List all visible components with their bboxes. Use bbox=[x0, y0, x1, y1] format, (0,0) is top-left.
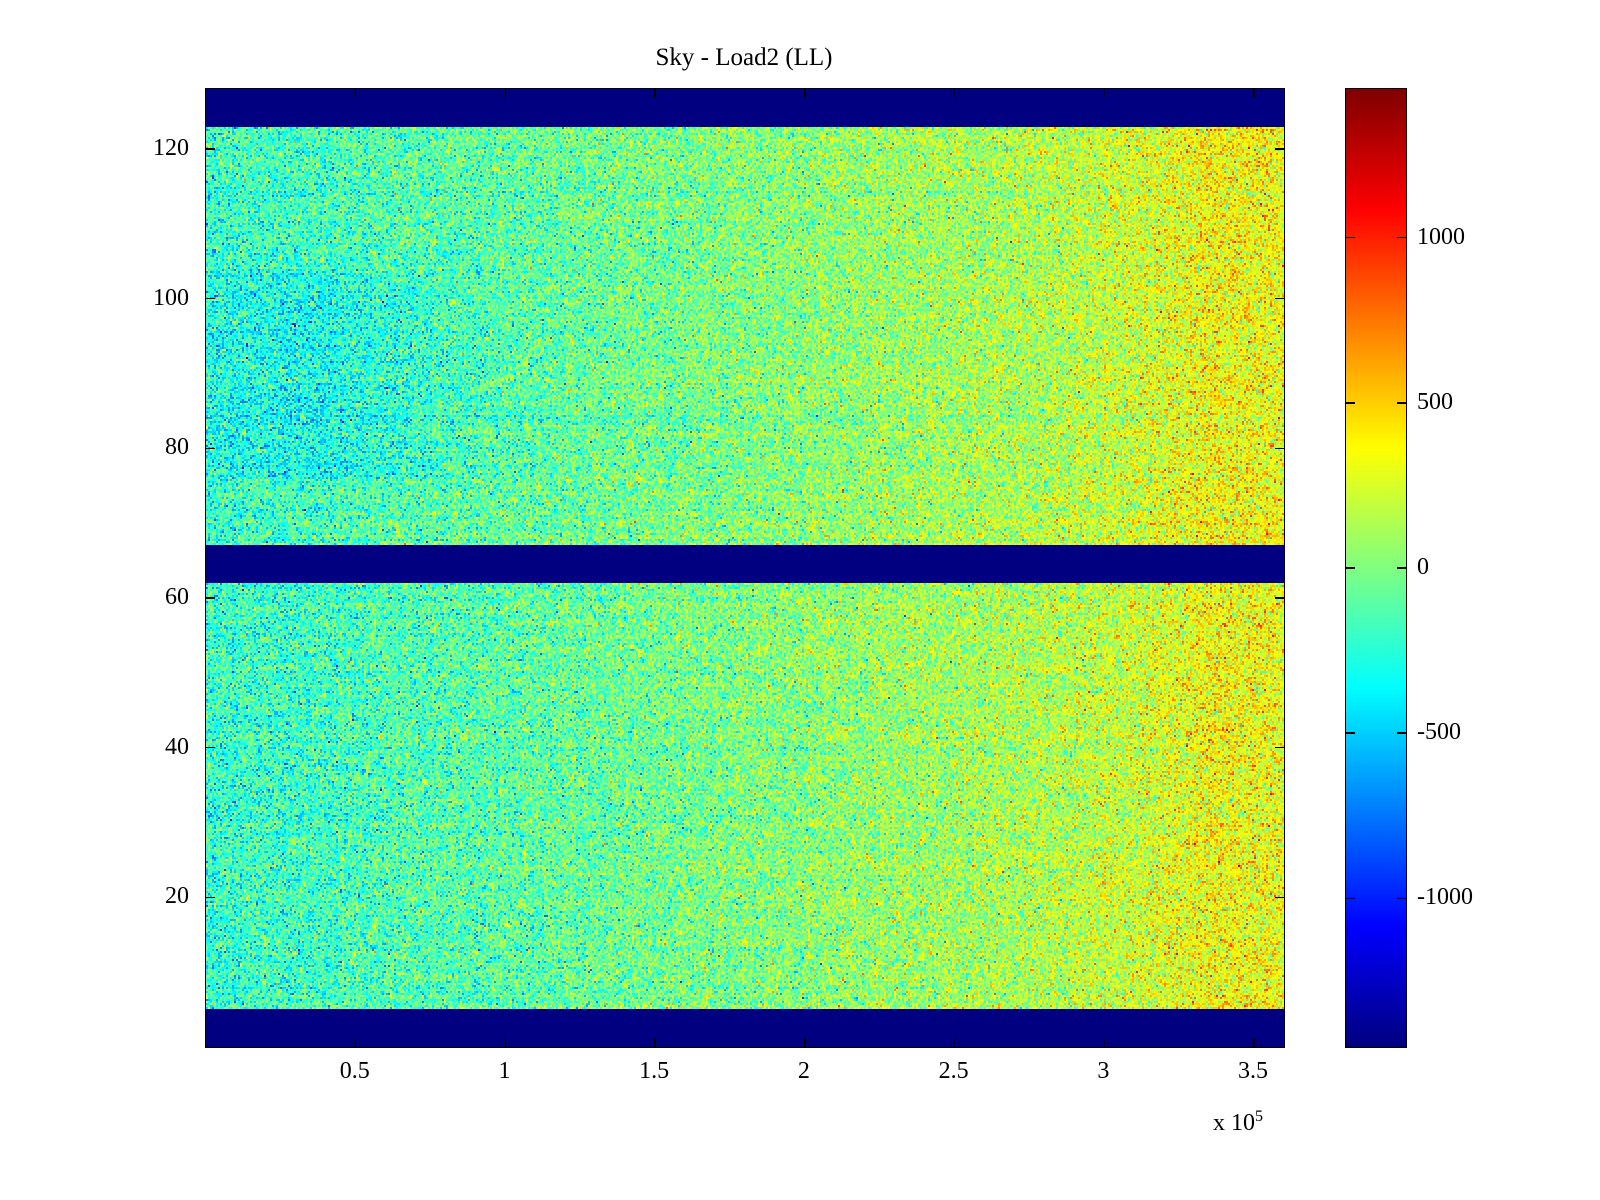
x-tick-bottom bbox=[654, 1038, 656, 1047]
x-axis-exponent-label: x 105 bbox=[1213, 1104, 1263, 1136]
x-tick-top bbox=[804, 89, 806, 98]
y-tick-label: 20 bbox=[0, 883, 189, 909]
y-tick-right bbox=[1275, 597, 1284, 599]
colorbar-tick-left bbox=[1346, 402, 1355, 404]
colorbar-tick-label: 0 bbox=[1417, 554, 1429, 580]
colorbar-tick-right bbox=[1397, 567, 1406, 569]
heatmap-image bbox=[206, 89, 1284, 1047]
x-tick-bottom bbox=[954, 1038, 956, 1047]
x-axis-exponent-power: 5 bbox=[1255, 1108, 1263, 1125]
x-tick-top bbox=[654, 89, 656, 98]
x-tick-bottom bbox=[355, 1038, 357, 1047]
x-tick-bottom bbox=[804, 1038, 806, 1047]
colorbar-tick-label: 1000 bbox=[1417, 224, 1465, 250]
x-tick-label: 1.5 bbox=[639, 1058, 669, 1084]
y-tick-label: 80 bbox=[0, 434, 189, 460]
y-tick-label: 60 bbox=[0, 584, 189, 610]
colorbar-tick-left bbox=[1346, 898, 1355, 900]
x-tick-top bbox=[954, 89, 956, 98]
y-tick-right bbox=[1275, 298, 1284, 300]
y-tick-right bbox=[1275, 148, 1284, 150]
y-tick-label: 100 bbox=[0, 285, 189, 311]
x-tick-label: 0.5 bbox=[340, 1058, 370, 1084]
colorbar-tick-label: -500 bbox=[1417, 719, 1461, 745]
colorbar-tick-left bbox=[1346, 567, 1355, 569]
colorbar-tick-right bbox=[1397, 402, 1406, 404]
y-tick-label: 120 bbox=[0, 135, 189, 161]
y-tick-left bbox=[206, 148, 215, 150]
colorbar-tick-label: -1000 bbox=[1417, 884, 1473, 910]
x-tick-label: 1 bbox=[498, 1058, 510, 1084]
colorbar-tick-right bbox=[1397, 898, 1406, 900]
y-tick-label: 40 bbox=[0, 734, 189, 760]
y-tick-left bbox=[206, 597, 215, 599]
colorbar-tick-left bbox=[1346, 237, 1355, 239]
x-tick-bottom bbox=[1253, 1038, 1255, 1047]
x-tick-label: 3 bbox=[1097, 1058, 1109, 1084]
y-tick-left bbox=[206, 747, 215, 749]
y-tick-left bbox=[206, 897, 215, 899]
x-tick-top bbox=[1253, 89, 1255, 98]
y-tick-left bbox=[206, 448, 215, 450]
x-tick-label: 2 bbox=[798, 1058, 810, 1084]
colorbar-tick-right bbox=[1397, 237, 1406, 239]
figure-canvas: Sky - Load2 (LL) 0.511.522.533.520406080… bbox=[0, 0, 1600, 1200]
value-colorbar[interactable] bbox=[1345, 88, 1407, 1048]
x-tick-bottom bbox=[505, 1038, 507, 1047]
x-axis-exponent-base: x 10 bbox=[1213, 1110, 1255, 1136]
y-tick-right bbox=[1275, 897, 1284, 899]
y-tick-right bbox=[1275, 448, 1284, 450]
plot-title: Sky - Load2 (LL) bbox=[205, 44, 1283, 72]
colorbar-tick-label: 500 bbox=[1417, 389, 1453, 415]
colorbar-tick-left bbox=[1346, 732, 1355, 734]
x-tick-top bbox=[505, 89, 507, 98]
x-tick-label: 2.5 bbox=[939, 1058, 969, 1084]
colorbar-tick-right bbox=[1397, 732, 1406, 734]
heatmap-axes[interactable] bbox=[205, 88, 1285, 1048]
y-tick-left bbox=[206, 298, 215, 300]
x-tick-label: 3.5 bbox=[1238, 1058, 1268, 1084]
x-tick-top bbox=[1104, 89, 1106, 98]
x-tick-bottom bbox=[1104, 1038, 1106, 1047]
x-tick-top bbox=[355, 89, 357, 98]
y-tick-right bbox=[1275, 747, 1284, 749]
